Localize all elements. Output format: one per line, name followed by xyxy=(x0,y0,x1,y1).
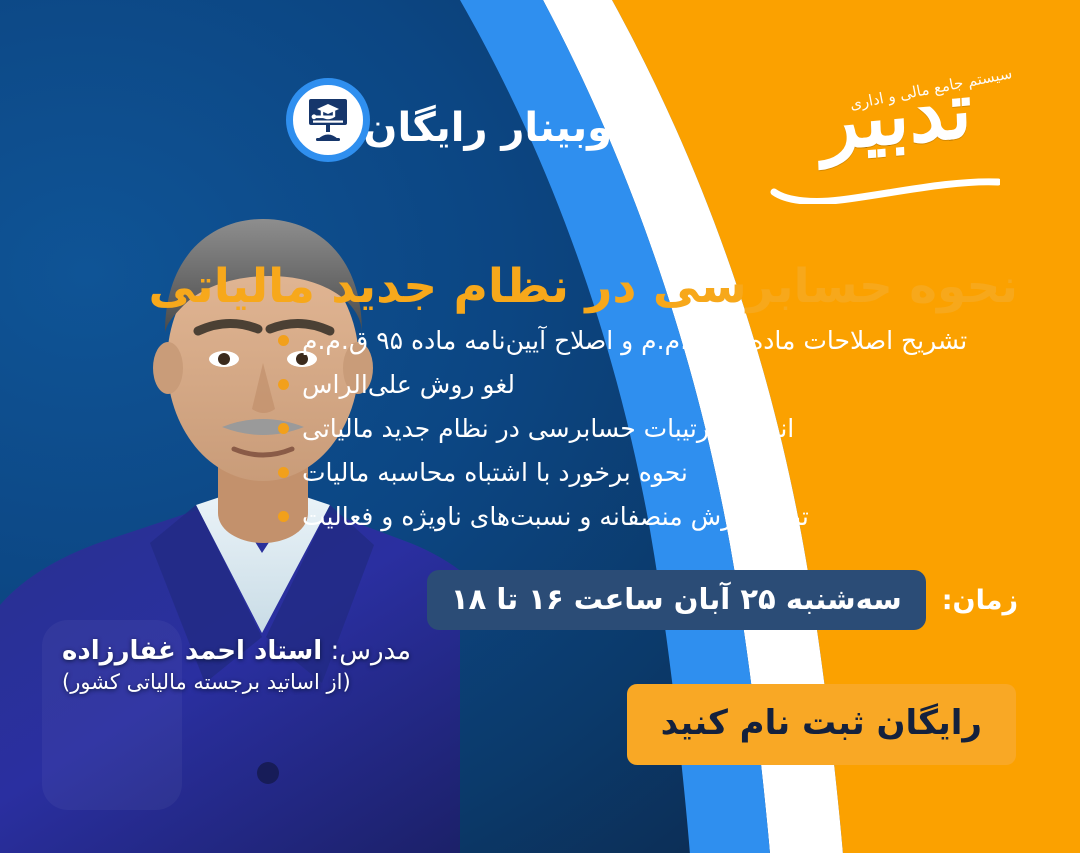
list-item: تشریح اصلاحات ماده ۹۷ ق.م.م و اصلاح آیین… xyxy=(278,318,1018,362)
brand-name: تدبیر xyxy=(820,71,973,162)
register-button[interactable]: رایگان ثبت نام کنید xyxy=(627,684,1016,765)
schedule-label: زمان: xyxy=(942,585,1018,616)
bullet-dot-icon xyxy=(278,511,289,522)
list-item-label: تشریح اصلاحات ماده ۹۷ ق.م.م و اصلاح آیین… xyxy=(302,326,967,355)
list-item-label: نحوه برخورد با اشتباه محاسبه مالیات xyxy=(302,458,688,487)
webinar-banner: سیستم جامع مالی و اداری تدبیر وبینار رای… xyxy=(0,0,1080,853)
bullet-dot-icon xyxy=(278,423,289,434)
list-item-label: تبیین ارزش منصفانه و نسبت‌های ناویژه و ف… xyxy=(302,502,809,531)
speaker-name-prefix: مدرس: xyxy=(330,636,411,666)
bullet-dot-icon xyxy=(278,467,289,478)
topics-list: تشریح اصلاحات ماده ۹۷ ق.م.م و اصلاح آیین… xyxy=(278,318,1018,538)
speaker-name-line: مدرس: استاد احمد غفارزاده xyxy=(62,636,411,666)
bullet-dot-icon xyxy=(278,379,289,390)
speaker-name: استاد احمد غفارزاده xyxy=(62,636,322,666)
webinar-badge xyxy=(286,78,370,162)
free-webinar-label: وبینار رایگان xyxy=(363,105,612,151)
list-item: نحوه برخورد با اشتباه محاسبه مالیات xyxy=(278,450,1018,494)
list-item: لغو روش علی‌الراس xyxy=(278,362,1018,406)
page-title: نحوه حسابرسی در نظام جدید مالیاتی xyxy=(278,259,1018,314)
monitor-graduation-cap-icon xyxy=(305,98,351,142)
list-item-label: لغو روش علی‌الراس xyxy=(302,370,515,399)
bullet-dot-icon xyxy=(278,335,289,346)
list-item: انواع و ترتیبات حسابرسی در نظام جدید مال… xyxy=(278,406,1018,450)
list-item-label: انواع و ترتیبات حسابرسی در نظام جدید مال… xyxy=(302,414,794,443)
speaker-caption: مدرس: استاد احمد غفارزاده (از اساتید برج… xyxy=(62,636,411,694)
schedule-row: زمان: سه‌شنبه ۲۵ آبان ساعت ۱۶ تا ۱۸ xyxy=(427,570,1018,630)
schedule-value-chip: سه‌شنبه ۲۵ آبان ساعت ۱۶ تا ۱۸ xyxy=(427,570,926,630)
logo-swash-icon xyxy=(770,178,1000,204)
brand-logo: سیستم جامع مالی و اداری تدبیر xyxy=(740,58,1020,178)
speaker-subtitle: (از اساتید برجسته مالیاتی کشور) xyxy=(62,670,411,694)
list-item: تبیین ارزش منصفانه و نسبت‌های ناویژه و ف… xyxy=(278,494,1018,538)
